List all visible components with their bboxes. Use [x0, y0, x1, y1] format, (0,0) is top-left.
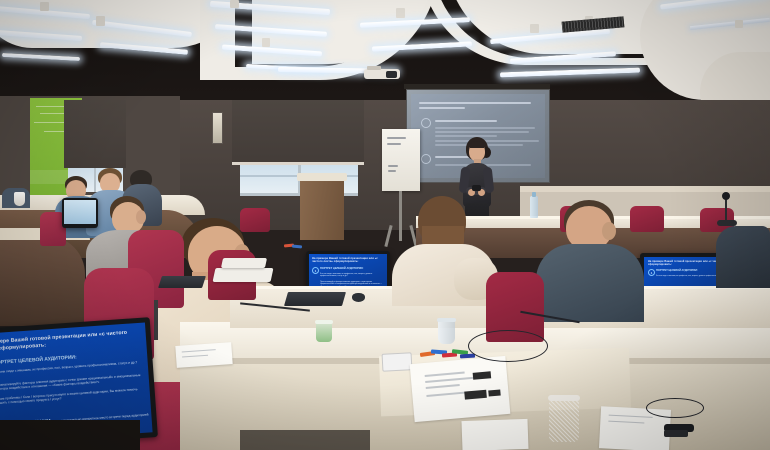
smartphone[interactable]: [382, 352, 413, 372]
projection-title-line-2: [419, 107, 465, 109]
projection-heading-1: [435, 120, 497, 122]
window-blind-left: [64, 100, 126, 168]
window-blind-center: [232, 100, 364, 165]
participant-cream-jacket: [392, 196, 496, 306]
cup-white: [14, 192, 25, 206]
keyboard[interactable]: [284, 292, 346, 306]
desk-device: [213, 268, 274, 282]
classroom-photo: На примере Вашей готовой презентации или…: [0, 0, 770, 450]
water-bottle: [530, 196, 538, 218]
mouse[interactable]: [352, 293, 365, 302]
participant-right-edge: [716, 226, 770, 292]
cable: [646, 398, 704, 418]
cup-red-patterned: [549, 397, 579, 442]
projection-number-2: [421, 154, 431, 164]
slide-number-1: 1: [312, 267, 319, 274]
podium: [300, 178, 344, 240]
handout-paper: [461, 419, 528, 450]
wall-plaque: [212, 112, 223, 144]
cup-green: [316, 322, 332, 342]
slide-title: На примере Вашей готовой презентации или…: [312, 257, 384, 264]
marker-set: [284, 243, 306, 249]
desk-device: [221, 258, 267, 268]
slide-bullet-1-1: Кто они люди с именами, их профессия, по…: [320, 273, 386, 278]
handout-paper: [410, 356, 511, 422]
projection-title-line-1: [419, 102, 531, 104]
floor-shadow: [0, 420, 140, 450]
participant-darkblue-sweater: [538, 200, 642, 320]
cup-clear: [438, 320, 455, 344]
keyboard[interactable]: [158, 276, 206, 288]
presenter-phone: [472, 185, 481, 191]
slide-number-1: 1: [648, 269, 655, 276]
slide-heading-1: ПОРТРЕТ ЦЕЛЕВОЙ АУДИТОРИИ:: [320, 267, 386, 270]
desk-microphone: [717, 190, 737, 226]
cable: [468, 330, 548, 362]
handout-paper: [175, 342, 232, 368]
monitor[interactable]: [62, 198, 98, 228]
projector: [364, 69, 400, 79]
projection-number-1: [421, 118, 431, 128]
usb-stick: [664, 430, 688, 437]
